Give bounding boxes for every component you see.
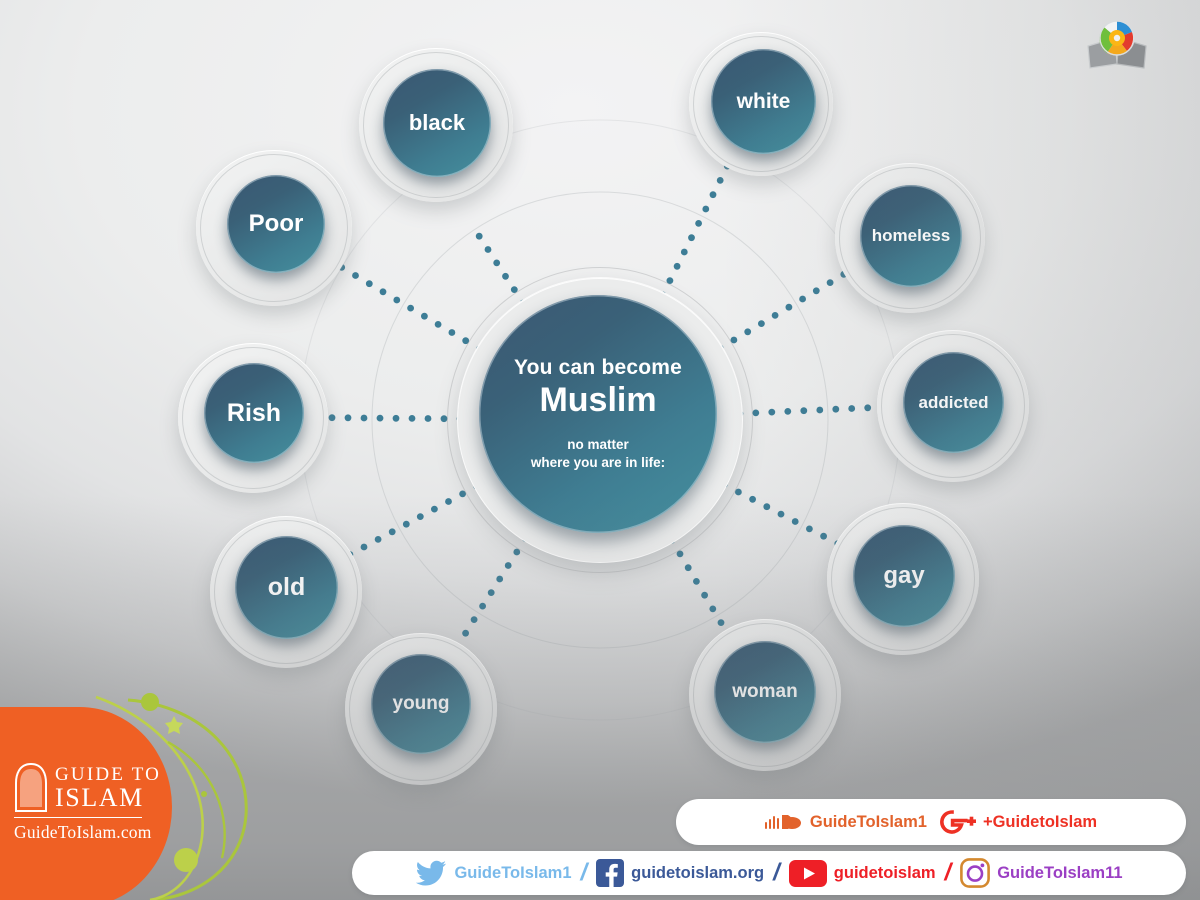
- node-addicted[interactable]: addicted: [877, 330, 1029, 482]
- social-twitter-label: GuideToIslam1: [454, 864, 571, 883]
- center-line-3b: where you are in life:: [531, 454, 665, 471]
- social-googleplus-label: +GuidetoIslam: [983, 813, 1097, 832]
- node-bubble: Rish: [204, 363, 304, 463]
- footer-social-top: GuideToIslam1 +GuidetoIslam: [676, 799, 1186, 845]
- node-black[interactable]: black: [359, 48, 513, 202]
- node-bubble: gay: [853, 525, 955, 627]
- node-bubble: addicted: [903, 352, 1004, 453]
- youtube-icon: [789, 860, 827, 887]
- twitter-icon: [415, 860, 447, 886]
- mosque-arch-icon: [14, 763, 48, 813]
- node-young[interactable]: young: [345, 633, 497, 785]
- social-facebook[interactable]: guidetoislam.org: [596, 859, 764, 887]
- social-instagram-label: GuideToIslam11: [997, 864, 1122, 883]
- node-label: gay: [883, 562, 924, 590]
- globe-book-emblem: [1086, 16, 1148, 72]
- node-label: old: [268, 573, 306, 602]
- facebook-icon: [596, 859, 624, 887]
- social-soundcloud-label: GuideToIslam1: [810, 813, 927, 832]
- node-bubble: Poor: [227, 175, 325, 273]
- infographic-canvas: black white Poor homeless Rish addicted: [0, 0, 1200, 900]
- node-label: addicted: [919, 393, 989, 413]
- social-soundcloud[interactable]: GuideToIslam1: [765, 811, 927, 833]
- node-label: homeless: [872, 226, 950, 246]
- brand-domain: GuideToIslam.com: [14, 822, 164, 843]
- node-bubble: woman: [714, 641, 816, 743]
- node-label: white: [737, 90, 791, 114]
- node-poor[interactable]: Poor: [196, 150, 352, 306]
- center-line-1: You can become: [514, 357, 682, 378]
- node-white[interactable]: white: [689, 32, 833, 176]
- brand-line-2: ISLAM: [55, 785, 161, 811]
- center-node[interactable]: You can become Muslim no matter where yo…: [457, 277, 743, 563]
- node-label: Rish: [227, 399, 281, 428]
- brand-divider: [14, 817, 142, 818]
- separator-1: /: [581, 859, 588, 887]
- social-facebook-label: guidetoislam.org: [631, 864, 764, 883]
- instagram-icon: [960, 858, 990, 888]
- node-homeless[interactable]: homeless: [835, 163, 985, 313]
- social-youtube[interactable]: guidetoislam: [789, 860, 936, 887]
- node-bubble: young: [371, 654, 471, 754]
- separator-2: /: [773, 859, 780, 887]
- node-label: black: [409, 110, 465, 136]
- node-label: woman: [732, 681, 797, 703]
- node-label: young: [393, 693, 450, 715]
- center-line-3: no matter where you are in life:: [531, 436, 665, 471]
- social-youtube-label: guidetoislam: [834, 864, 936, 883]
- social-googleplus[interactable]: +GuidetoIslam: [940, 809, 1097, 835]
- social-twitter[interactable]: GuideToIslam1: [415, 860, 571, 886]
- node-bubble: homeless: [860, 185, 962, 287]
- center-bubble: You can become Muslim no matter where yo…: [479, 295, 717, 533]
- brand-line-1: GUIDE TO: [55, 765, 161, 784]
- node-old[interactable]: old: [210, 516, 362, 668]
- brand-panel: GUIDE TO ISLAM GuideToIslam.com: [0, 707, 172, 900]
- separator-3: /: [945, 859, 952, 887]
- node-label: Poor: [249, 210, 304, 238]
- googleplus-icon: [940, 809, 976, 835]
- center-line-3a: no matter: [531, 436, 665, 453]
- brand-logo: GUIDE TO ISLAM GuideToIslam.com: [14, 763, 164, 843]
- node-bubble: white: [711, 49, 816, 154]
- node-bubble: black: [383, 69, 491, 177]
- node-rish[interactable]: Rish: [178, 343, 328, 493]
- soundcloud-icon: [765, 811, 803, 833]
- node-gay[interactable]: gay: [827, 503, 979, 655]
- social-instagram[interactable]: GuideToIslam11: [960, 858, 1122, 888]
- footer-social-bottom: GuideToIslam1 / guidetoislam.org / guide…: [352, 851, 1186, 895]
- node-woman[interactable]: woman: [689, 619, 841, 771]
- center-line-2: Muslim: [539, 383, 656, 417]
- node-bubble: old: [235, 536, 338, 639]
